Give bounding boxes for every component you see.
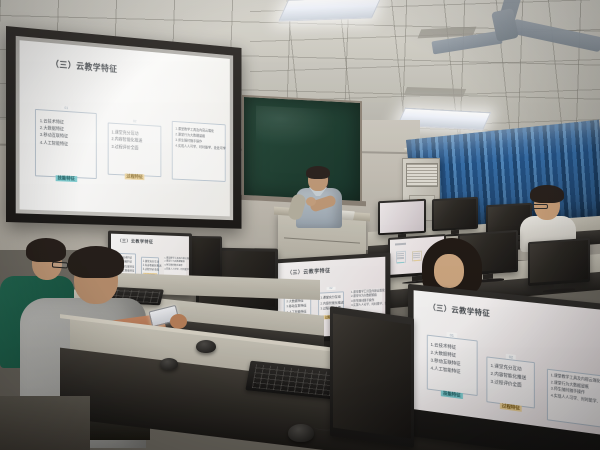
person-hair — [68, 246, 124, 278]
presenter-hand — [306, 197, 316, 206]
mouse[interactable] — [160, 358, 178, 370]
slide-title: （三）云教学特征 — [287, 267, 330, 276]
slide-box-03: 1.课堂教学工具及内容云端化 2.课堂行为大数据留痕 3.师生随时随手操作 4.… — [172, 121, 226, 181]
monitor[interactable] — [432, 197, 478, 231]
slide-box-01: 01 1.云技术特征 2.大数据特征 3.移动互联特征 4.人工智能特征 技能特… — [427, 335, 478, 396]
slide-box-01: 01 1.云技术特征 2.大数据特征 3.移动互联特征 4.人工智能特征 技能特… — [35, 109, 96, 179]
presenter-hair — [306, 166, 330, 179]
presenter — [292, 168, 348, 226]
slide-item: 3.过程评价全面 — [111, 143, 158, 153]
floor — [0, 396, 90, 450]
slide-title: （三）云教学特征 — [118, 238, 154, 245]
monitor-screen[interactable] — [530, 240, 587, 283]
slide-item: 4.实现人人可学、时时能学、处处可学 — [164, 269, 185, 274]
slide-tag: 技能特征 — [56, 175, 77, 182]
person-hand — [170, 314, 187, 329]
blackboard-glare — [256, 106, 337, 150]
monitor-screen[interactable] — [434, 198, 476, 228]
slide-projected: （三）云教学特征 01 1.云技术特征 2.大数据特征 3.移动互联特征 4.人… — [20, 40, 230, 216]
projection-screen: （三）云教学特征 01 1.云技术特征 2.大数据特征 3.移动互联特征 4.人… — [6, 26, 241, 229]
mini-slide-title — [395, 243, 407, 245]
monitor[interactable] — [378, 199, 426, 236]
mini-slide-box-01 — [396, 251, 407, 264]
person-hair — [530, 185, 564, 203]
monitor[interactable] — [330, 306, 414, 448]
slide-tag: 技能特征 — [441, 390, 462, 399]
slide-title: （三）云教学特征 — [51, 58, 118, 75]
monitor-screen[interactable] — [380, 201, 424, 233]
mouse[interactable] — [196, 340, 216, 353]
student-back-right — [522, 186, 574, 244]
slide-box-02: 02 1.课堂充分互动 2.内容智能化推送 3.过程评价全面 过程特征 — [107, 122, 161, 177]
monitor-showing-slide-foreground[interactable]: （三）云教学特征 01 1.云技术特征 2.大数据特征 3.移动互联特征 4.人… — [408, 284, 600, 450]
monitor[interactable] — [528, 238, 590, 286]
slide-box-number: 01 — [62, 106, 71, 111]
screen-surface: （三）云教学特征 01 1.云技术特征 2.大数据特征 3.移动互联特征 4.人… — [16, 36, 233, 220]
monitor-screen[interactable] — [333, 313, 410, 438]
slide-box-number: 01 — [447, 332, 457, 338]
glasses-icon — [532, 204, 548, 209]
slide-box-number: 02 — [130, 119, 139, 123]
person-face — [434, 254, 464, 288]
slide-tag: 过程特征 — [125, 173, 145, 180]
slide-tag: 过程特征 — [500, 403, 522, 412]
slide-box-03: 1.课堂教学工具及内容云端化 2.课堂行为大数据留痕 3.师生随时随手操作 4.… — [547, 368, 600, 427]
classroom-photo: （三）云教学特征 01 1.云技术特征 2.大数据特征 3.移动互联特征 4.人… — [0, 0, 600, 450]
mouse[interactable] — [288, 424, 314, 442]
slide-box-number: 02 — [506, 353, 516, 359]
slide-box-02: 02 1.课堂充分互动 2.内容智能化推送 3.过程评价全面 过程特征 — [487, 356, 535, 408]
slide-title: （三）云教学特征 — [429, 302, 491, 320]
slide-box-number: 02 — [327, 287, 336, 290]
ceiling-light-panel — [278, 0, 381, 22]
slide-item: 4.实现人人可学、时时能学、处处可学 — [351, 303, 381, 309]
ac-grille-icon — [406, 163, 438, 187]
